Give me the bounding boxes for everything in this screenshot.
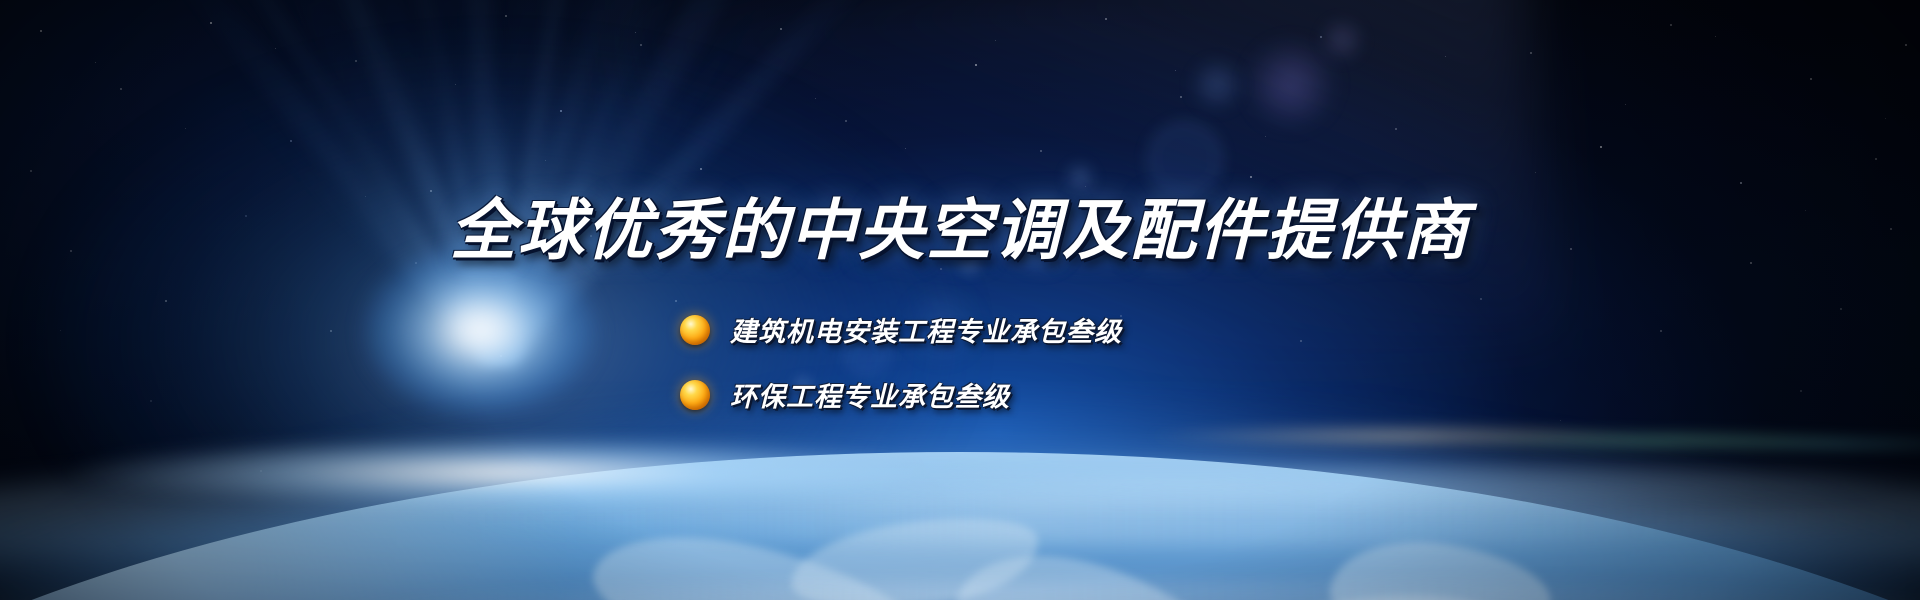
certification-list: 建筑机电安装工程专业承包叁级 环保工程专业承包叁级 (0, 310, 1920, 440)
list-item: 环保工程专业承包叁级 (680, 375, 1240, 414)
page-title: 全球优秀的中央空调及配件提供商 (0, 198, 1920, 264)
orange-dot-icon (680, 315, 710, 345)
certification-label: 建筑机电安装工程专业承包叁级 (730, 310, 1122, 349)
certification-label: 环保工程专业承包叁级 (730, 375, 1010, 414)
orange-dot-icon (680, 380, 710, 410)
banner-content: 全球优秀的中央空调及配件提供商 建筑机电安装工程专业承包叁级 环保工程专业承包叁… (0, 0, 1920, 600)
list-item: 建筑机电安装工程专业承包叁级 (680, 310, 1240, 349)
hero-banner: 全球优秀的中央空调及配件提供商 建筑机电安装工程专业承包叁级 环保工程专业承包叁… (0, 0, 1920, 600)
